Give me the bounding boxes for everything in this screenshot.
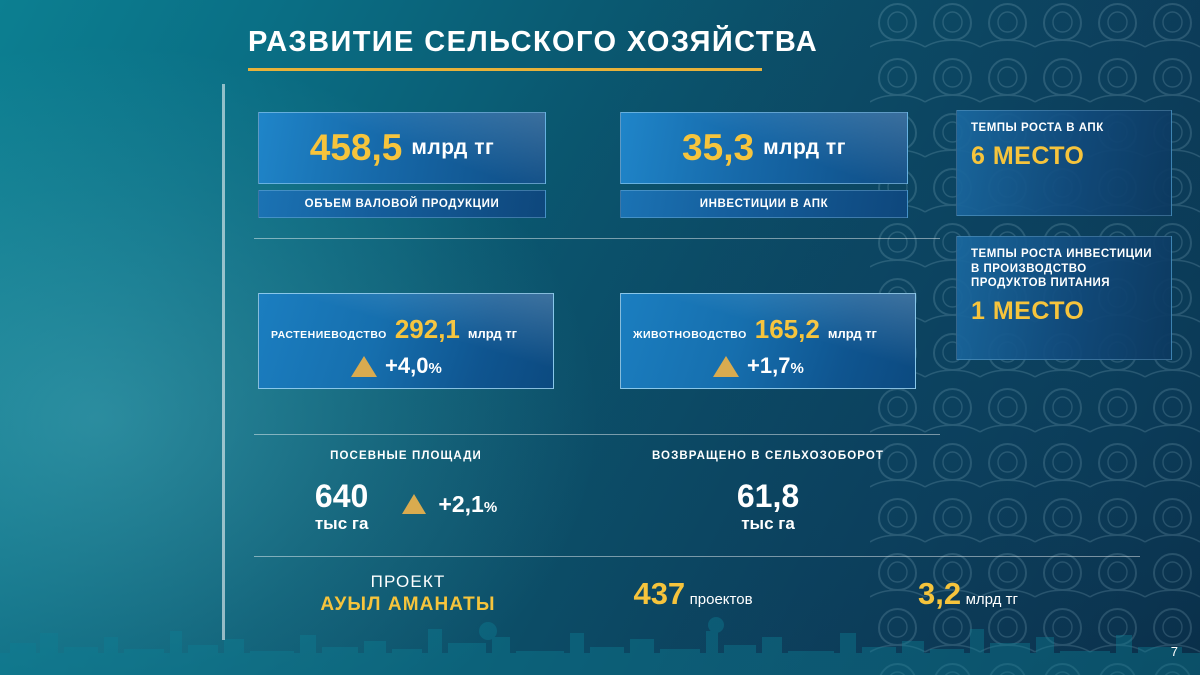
kpi-unit: млрд тг <box>411 136 494 160</box>
sector-change-row: +1,7% <box>621 345 915 379</box>
up-triangle-icon <box>402 494 426 514</box>
divider-sectors <box>254 238 940 239</box>
stat-value: 640 <box>315 480 369 514</box>
kpi-value-block: 458,5 млрд тг <box>258 112 546 184</box>
stat-header: ВОЗВРАЩЕНО В СЕЛЬХОЗОБОРОТ <box>620 450 916 462</box>
sector-change-row: +4,0% <box>259 345 553 379</box>
stat-sown-area: ПОСЕВНЫЕ ПЛОЩАДИ 640 тыс га +2,1% <box>258 450 554 534</box>
stat-value: 61,8 <box>620 480 916 514</box>
divider-stats <box>254 434 940 435</box>
rank-place: 6 МЕСТО <box>971 142 1159 171</box>
sector-value: 165,2 <box>755 314 820 345</box>
project-name: АУЫЛ АМАНАТЫ <box>258 594 558 616</box>
kpi-card-investments: 35,3 млрд тг ИНВЕСТИЦИИ В АПК <box>620 112 908 218</box>
sector-value: 292,1 <box>395 314 460 345</box>
kpi-value-block: 35,3 млрд тг <box>620 112 908 184</box>
up-triangle-icon <box>351 356 377 377</box>
sector-card-crop-production: РАСТЕНИЕВОДСТВО 292,1 млрд тг +4,0% <box>258 293 554 389</box>
title-underline <box>248 68 762 71</box>
rank-place: 1 МЕСТО <box>971 297 1159 326</box>
project-row: ПРОЕКТ АУЫЛ АМАНАТЫ 437 проектов 3,2 млр… <box>258 572 1144 616</box>
sector-name: РАСТЕНИЕВОДСТВО <box>271 329 387 341</box>
sector-headline: РАСТЕНИЕВОДСТВО 292,1 млрд тг <box>259 294 553 345</box>
project-count: 437 <box>633 576 685 611</box>
project-label: ПРОЕКТ <box>258 572 558 592</box>
sector-change: +1,7% <box>747 353 804 379</box>
kpi-card-gross-output: 458,5 млрд тг ОБЪЕМ ВАЛОВОЙ ПРОДУКЦИИ <box>258 112 546 218</box>
sector-unit: млрд тг <box>468 326 517 341</box>
rank-label: ТЕМПЫ РОСТА в АПК <box>971 121 1159 136</box>
sector-name: ЖИВОТНОВОДСТВО <box>633 329 747 341</box>
sector-unit: млрд тг <box>828 326 877 341</box>
project-count-unit: проектов <box>690 591 753 608</box>
sector-card-livestock: ЖИВОТНОВОДСТВО 165,2 млрд тг +1,7% <box>620 293 916 389</box>
kpi-caption: ОБЪЕМ ВАЛОВОЙ ПРОДУКЦИИ <box>258 190 546 218</box>
kpi-value: 458,5 <box>310 127 403 169</box>
rank-card-apk-growth: ТЕМПЫ РОСТА в АПК 6 МЕСТО <box>956 110 1172 216</box>
divider-project <box>254 556 1140 557</box>
stat-header: ПОСЕВНЫЕ ПЛОЩАДИ <box>258 450 554 462</box>
sector-change: +4,0% <box>385 353 442 379</box>
kpi-caption: ИНВЕСТИЦИИ В АПК <box>620 190 908 218</box>
stat-unit: тыс га <box>620 514 916 534</box>
project-amount-unit: млрд тг <box>966 591 1018 608</box>
stat-returned-to-circulation: ВОЗВРАЩЕНО В СЕЛЬХОЗОБОРОТ 61,8 тыс га <box>620 450 916 534</box>
page-title: РАЗВИТИЕ СЕЛЬСКОГО ХОЗЯЙСТВА <box>248 26 818 59</box>
rank-card-food-investment-growth: ТЕМПЫ РОСТА ИНВЕСТИЦИИ В ПРОИЗВОДСТВО ПР… <box>956 236 1172 360</box>
rank-label: ТЕМПЫ РОСТА ИНВЕСТИЦИИ В ПРОИЗВОДСТВО ПР… <box>971 247 1159 291</box>
up-triangle-icon <box>713 356 739 377</box>
kpi-value: 35,3 <box>682 127 754 169</box>
kpi-unit: млрд тг <box>763 136 846 160</box>
vertical-divider <box>222 84 225 640</box>
stat-change: +2,1% <box>438 492 497 516</box>
page-number: 7 <box>1171 644 1178 659</box>
stat-unit: тыс га <box>315 514 369 534</box>
sector-headline: ЖИВОТНОВОДСТВО 165,2 млрд тг <box>621 294 915 345</box>
slide-background: РАЗВИТИЕ СЕЛЬСКОГО ХОЗЯЙСТВА 458,5 млрд … <box>0 0 1200 675</box>
project-amount: 3,2 <box>918 576 961 611</box>
